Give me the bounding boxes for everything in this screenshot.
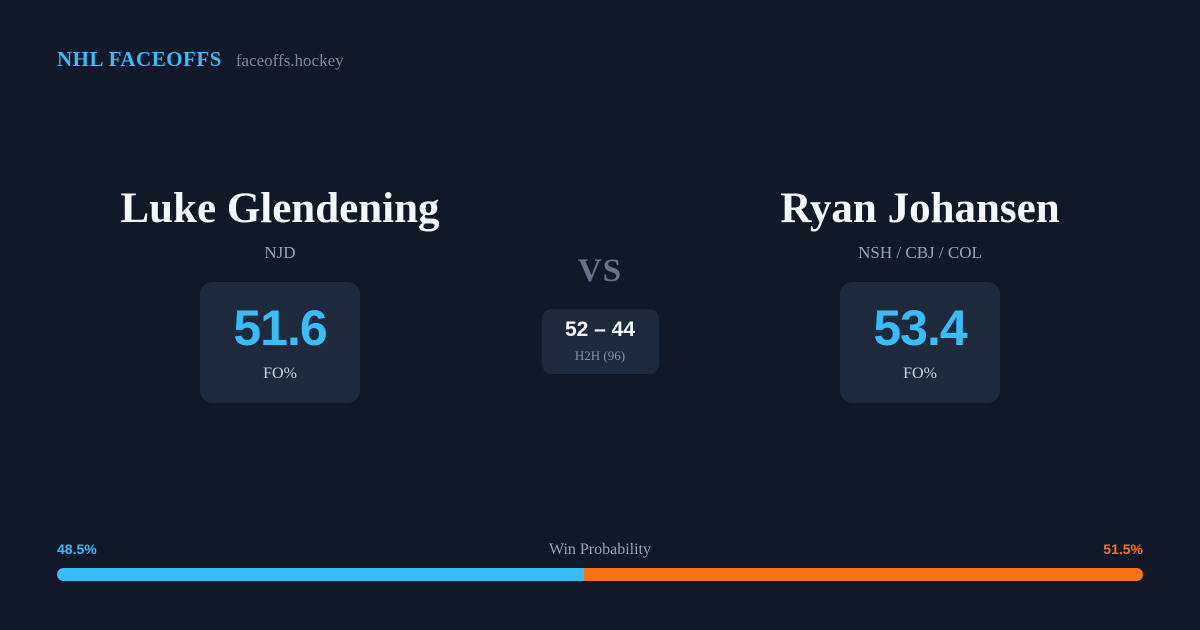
player-teams-left: NJD	[264, 243, 295, 263]
head-to-head-record: 52 – 44	[565, 319, 635, 340]
matchup-section: Luke Glendening NJD 51.6 FO% VS 52 – 44 …	[0, 186, 1200, 403]
faceoff-stat-label-right: FO%	[903, 365, 937, 383]
player-teams-right: NSH / CBJ / COL	[858, 243, 982, 263]
versus-label: VS	[578, 255, 622, 288]
faceoff-stat-card-left: 51.6 FO%	[200, 282, 360, 403]
player-name-right: Ryan Johansen	[780, 186, 1059, 232]
player-name-left: Luke Glendening	[120, 186, 439, 232]
head-to-head-card: 52 – 44 H2H (96)	[542, 309, 659, 374]
site-header: NHL FACEOFFS faceoffs.hockey	[57, 47, 344, 72]
faceoff-percent-left: 51.6	[233, 303, 326, 353]
brand-domain: faceoffs.hockey	[236, 51, 344, 71]
versus-block: VS 52 – 44 H2H (96)	[500, 186, 700, 374]
head-to-head-label: H2H (96)	[575, 348, 625, 364]
player-card-left: Luke Glendening NJD 51.6 FO%	[60, 186, 500, 403]
faceoff-stat-card-right: 53.4 FO%	[840, 282, 1000, 403]
win-probability-left-value: 48.5%	[57, 541, 97, 557]
win-probability-section: 48.5% Win Probability 51.5%	[57, 541, 1143, 581]
win-probability-labels: 48.5% Win Probability 51.5%	[57, 541, 1143, 559]
win-probability-right-value: 51.5%	[1103, 541, 1143, 557]
win-probability-title: Win Probability	[549, 541, 651, 559]
faceoff-stat-label-left: FO%	[263, 365, 297, 383]
faceoff-percent-right: 53.4	[873, 303, 966, 353]
brand-title: NHL FACEOFFS	[57, 47, 222, 72]
win-probability-bar-right-segment	[584, 568, 1143, 581]
win-probability-bar	[57, 568, 1143, 581]
win-probability-bar-left-segment	[57, 568, 584, 581]
player-card-right: Ryan Johansen NSH / CBJ / COL 53.4 FO%	[700, 186, 1140, 403]
